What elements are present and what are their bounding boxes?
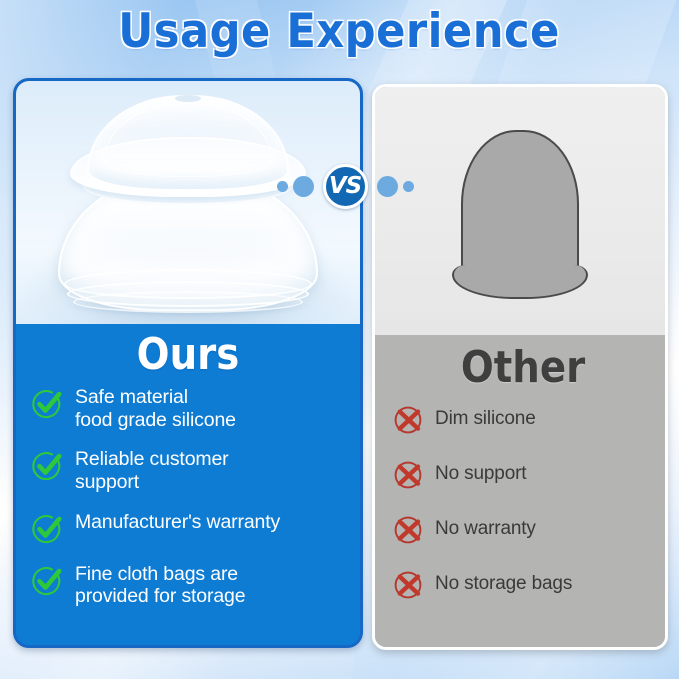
page-title-wrap: Usage Experience	[0, 8, 679, 55]
check-circle-icon	[30, 512, 64, 546]
list-item-label: No storage bags	[435, 573, 572, 595]
versus-dot	[377, 176, 398, 197]
x-circle-icon	[393, 458, 425, 490]
versus-badge: VS	[323, 164, 368, 209]
ours-panel-body: Ours Safe material food grade silicone	[16, 324, 360, 645]
cup-top-nub	[175, 95, 201, 102]
list-item: Dim silicone	[393, 403, 653, 435]
list-item: Manufacturer's warranty	[30, 511, 346, 546]
other-product-photo	[375, 87, 665, 337]
list-item: No warranty	[393, 513, 653, 545]
list-item-label: Fine cloth bags are provided for storage	[75, 563, 245, 608]
x-circle-icon	[393, 403, 425, 435]
list-item-label: Manufacturer's warranty	[75, 511, 280, 534]
list-item: Reliable customer support	[30, 448, 346, 493]
list-item-label: Safe material food grade silicone	[75, 386, 236, 431]
page-title: Usage Experience	[119, 8, 561, 55]
list-item-label: Dim silicone	[435, 408, 536, 430]
other-feature-list: Dim silicone No support	[393, 403, 653, 600]
list-item: No support	[393, 458, 653, 490]
cup-base-ring	[73, 291, 303, 313]
other-panel-body: Other Dim silicone	[375, 335, 665, 647]
versus-dot	[293, 176, 314, 197]
check-circle-icon	[30, 387, 64, 421]
list-item: Safe material food grade silicone	[30, 386, 346, 431]
list-item: No storage bags	[393, 568, 653, 600]
ours-feature-list: Safe material food grade silicone Reliab…	[30, 386, 346, 608]
versus-badge-cluster: VS	[285, 162, 405, 210]
check-circle-icon	[30, 449, 64, 483]
other-heading: Other	[409, 345, 638, 391]
list-item-label: No support	[435, 463, 526, 485]
other-panel: Other Dim silicone	[372, 84, 668, 650]
check-circle-icon	[30, 564, 64, 598]
x-circle-icon	[393, 568, 425, 600]
versus-dot	[277, 181, 288, 192]
list-item-label: No warranty	[435, 518, 536, 540]
versus-dot	[403, 181, 414, 192]
usage-experience-poster: Usage Experience Ours	[0, 0, 679, 679]
other-cup-join	[467, 263, 573, 271]
ours-heading: Ours	[49, 332, 327, 378]
x-circle-icon	[393, 513, 425, 545]
list-item-label: Reliable customer support	[75, 448, 229, 493]
list-item: Fine cloth bags are provided for storage	[30, 563, 346, 608]
